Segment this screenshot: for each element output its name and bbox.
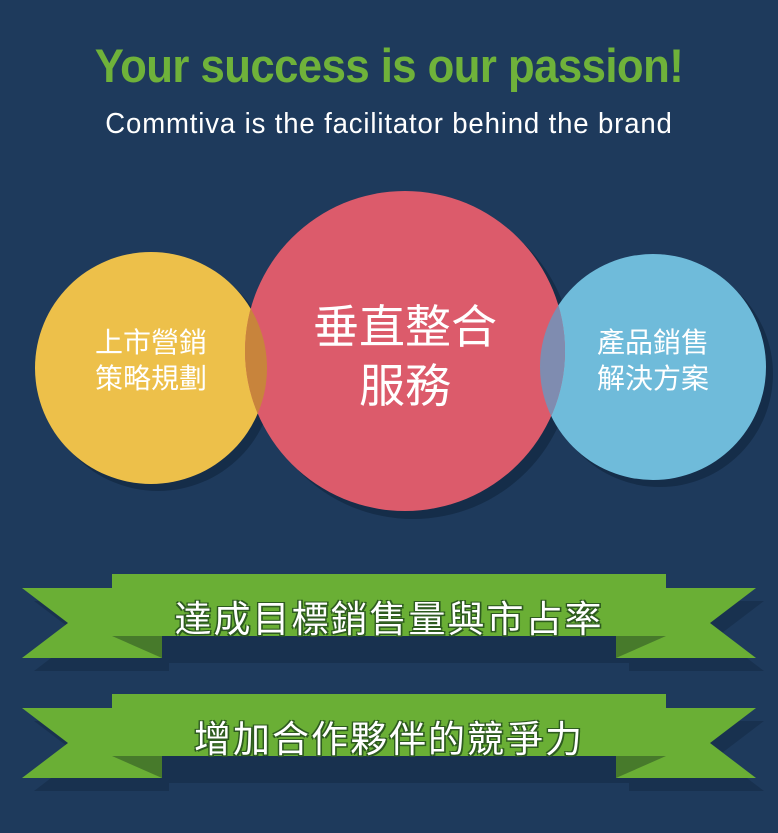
- venn-label-left-line1: 上市營銷: [95, 326, 207, 359]
- header-block: Your success is our passion! Commtiva is…: [0, 0, 778, 175]
- venn-label-center: 垂直整合 服務: [245, 298, 565, 416]
- ribbon-banner-1[interactable]: 達成目標銷售量與市占率: [0, 562, 778, 680]
- ribbon-banner-2[interactable]: 增加合作夥伴的競爭力: [0, 682, 778, 800]
- venn-label-left-line2: 策略規劃: [35, 361, 267, 397]
- venn-label-center-line1: 垂直整合: [313, 300, 497, 354]
- page-title: Your success is our passion!: [27, 42, 751, 89]
- venn-label-center-line2: 服務: [245, 357, 565, 416]
- page-subtitle: Commtiva is the facilitator behind the b…: [19, 110, 758, 139]
- venn-label-right-line2: 解決方案: [540, 361, 766, 397]
- venn-label-right: 產品銷售 解決方案: [540, 325, 766, 397]
- ribbon-1-shape: [0, 562, 778, 680]
- ribbon-2-shape: [0, 682, 778, 800]
- infographic-canvas: Your success is our passion! Commtiva is…: [0, 0, 778, 833]
- venn-diagram: 上市營銷 策略規劃 垂直整合 服務 產品銷售 解決方案: [0, 178, 778, 560]
- venn-label-left: 上市營銷 策略規劃: [35, 325, 267, 397]
- venn-label-right-line1: 產品銷售: [597, 326, 709, 359]
